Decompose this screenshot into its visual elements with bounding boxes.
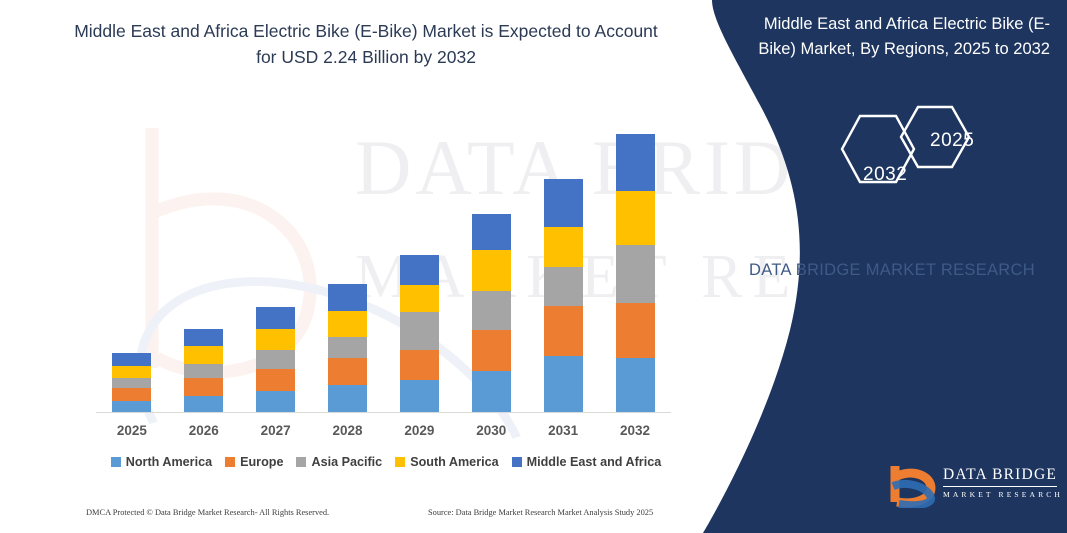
x-axis-label: 2025: [96, 423, 168, 438]
bar-segment: [544, 306, 583, 357]
x-axis-line: [96, 412, 671, 413]
bar-segment: [544, 356, 583, 413]
bar-segment: [544, 227, 583, 266]
bar-segment: [328, 311, 367, 337]
bar-column: [384, 110, 456, 413]
bar-segment: [256, 369, 295, 391]
legend-item[interactable]: South America: [395, 455, 498, 469]
bar-segment: [112, 378, 151, 388]
stacked-bar: [328, 284, 367, 413]
hexagon-2025-label: 2025: [930, 130, 974, 152]
bar-segment: [328, 358, 367, 384]
bar-segment: [256, 307, 295, 329]
bar-segment: [256, 329, 295, 350]
data-bridge-logo: DATA BRIDGE MARKET RESEARCH: [887, 462, 1067, 514]
bar-segment: [544, 179, 583, 227]
logo-wordmark: DATA BRIDGE MARKET RESEARCH: [943, 466, 1063, 499]
bar-segment: [472, 250, 511, 290]
legend-label: Europe: [240, 455, 283, 469]
x-axis-label: 2032: [599, 423, 671, 438]
footer-copyright: DMCA Protected © Data Bridge Market Rese…: [86, 508, 329, 517]
bar-segment: [472, 291, 511, 330]
stacked-bar: [616, 134, 655, 413]
hexagon-badges: 2032 2025: [822, 104, 1002, 209]
infographic-root: DATA BRIDGE MARKET RESEARCH Middle East …: [0, 0, 1067, 533]
brand-panel-content: Middle East and Africa Electric Bike (E-…: [712, 0, 1067, 533]
bar-segment: [328, 337, 367, 358]
x-axis-label: 2028: [312, 423, 384, 438]
bar-segment: [616, 134, 655, 191]
legend-swatch-icon: [512, 457, 522, 467]
bar-segment: [184, 364, 223, 378]
bar-column: [240, 110, 312, 413]
chart-pane: Middle East and Africa Electric Bike (E-…: [0, 0, 712, 533]
x-axis-label: 2031: [527, 423, 599, 438]
logo-mark-icon: [887, 462, 939, 508]
stacked-bar: [256, 307, 295, 413]
bar-column: [599, 110, 671, 413]
legend-item[interactable]: Europe: [225, 455, 283, 469]
legend-swatch-icon: [296, 457, 306, 467]
bar-column: [527, 110, 599, 413]
bar-segment: [328, 284, 367, 311]
bar-segment: [400, 380, 439, 413]
bar-segment: [184, 378, 223, 396]
chart-plot-area: [96, 110, 671, 413]
bar-segment: [472, 330, 511, 370]
legend-swatch-icon: [111, 457, 121, 467]
bar-segment: [544, 267, 583, 306]
bar-segment: [616, 303, 655, 359]
bar-segment: [112, 388, 151, 401]
bar-segment: [400, 255, 439, 284]
bar-column: [455, 110, 527, 413]
bar-segment: [400, 312, 439, 350]
legend-swatch-icon: [395, 457, 405, 467]
legend-item[interactable]: Middle East and Africa: [512, 455, 662, 469]
x-axis-label: 2027: [240, 423, 312, 438]
legend-swatch-icon: [225, 457, 235, 467]
stacked-bar: [400, 255, 439, 413]
legend-label: Asia Pacific: [311, 455, 382, 469]
bar-segment: [112, 366, 151, 378]
x-axis-labels: 20252026202720282029203020312032: [96, 423, 671, 438]
bar-group: [96, 110, 671, 413]
bar-segment: [256, 391, 295, 413]
bar-segment: [472, 371, 511, 413]
bar-segment: [616, 191, 655, 246]
page-title: Middle East and Africa Electric Bike (E-…: [66, 18, 666, 71]
footer-source: Source: Data Bridge Market Research Mark…: [428, 508, 653, 517]
bar-column: [96, 110, 168, 413]
x-axis-label: 2026: [168, 423, 240, 438]
stacked-bar: [472, 214, 511, 413]
bar-segment: [184, 346, 223, 363]
hexagon-2032-label: 2032: [863, 164, 907, 186]
x-axis-label: 2029: [384, 423, 456, 438]
legend-label: Middle East and Africa: [527, 455, 662, 469]
bar-segment: [184, 396, 223, 413]
stacked-bar: [112, 353, 151, 413]
stacked-bar: [184, 329, 223, 413]
bar-segment: [112, 353, 151, 365]
legend-label: North America: [126, 455, 212, 469]
bar-segment: [616, 245, 655, 303]
legend-label: South America: [410, 455, 498, 469]
stacked-bar: [544, 179, 583, 413]
bar-column: [168, 110, 240, 413]
bar-segment: [400, 285, 439, 312]
bar-segment: [472, 214, 511, 250]
bar-segment: [256, 350, 295, 368]
logo-line-1: DATA BRIDGE: [943, 466, 1057, 487]
legend-item[interactable]: Asia Pacific: [296, 455, 382, 469]
legend-item[interactable]: North America: [111, 455, 212, 469]
x-axis-label: 2030: [455, 423, 527, 438]
bar-segment: [328, 385, 367, 413]
brand-name-text: DATA BRIDGE MARKET RESEARCH: [722, 258, 1062, 284]
panel-title: Middle East and Africa Electric Bike (E-…: [730, 12, 1050, 62]
bar-column: [312, 110, 384, 413]
chart-legend: North AmericaEuropeAsia PacificSouth Ame…: [96, 455, 676, 469]
bar-segment: [400, 350, 439, 379]
bar-segment: [616, 358, 655, 413]
logo-line-2: MARKET RESEARCH: [943, 490, 1063, 499]
bar-segment: [184, 329, 223, 346]
